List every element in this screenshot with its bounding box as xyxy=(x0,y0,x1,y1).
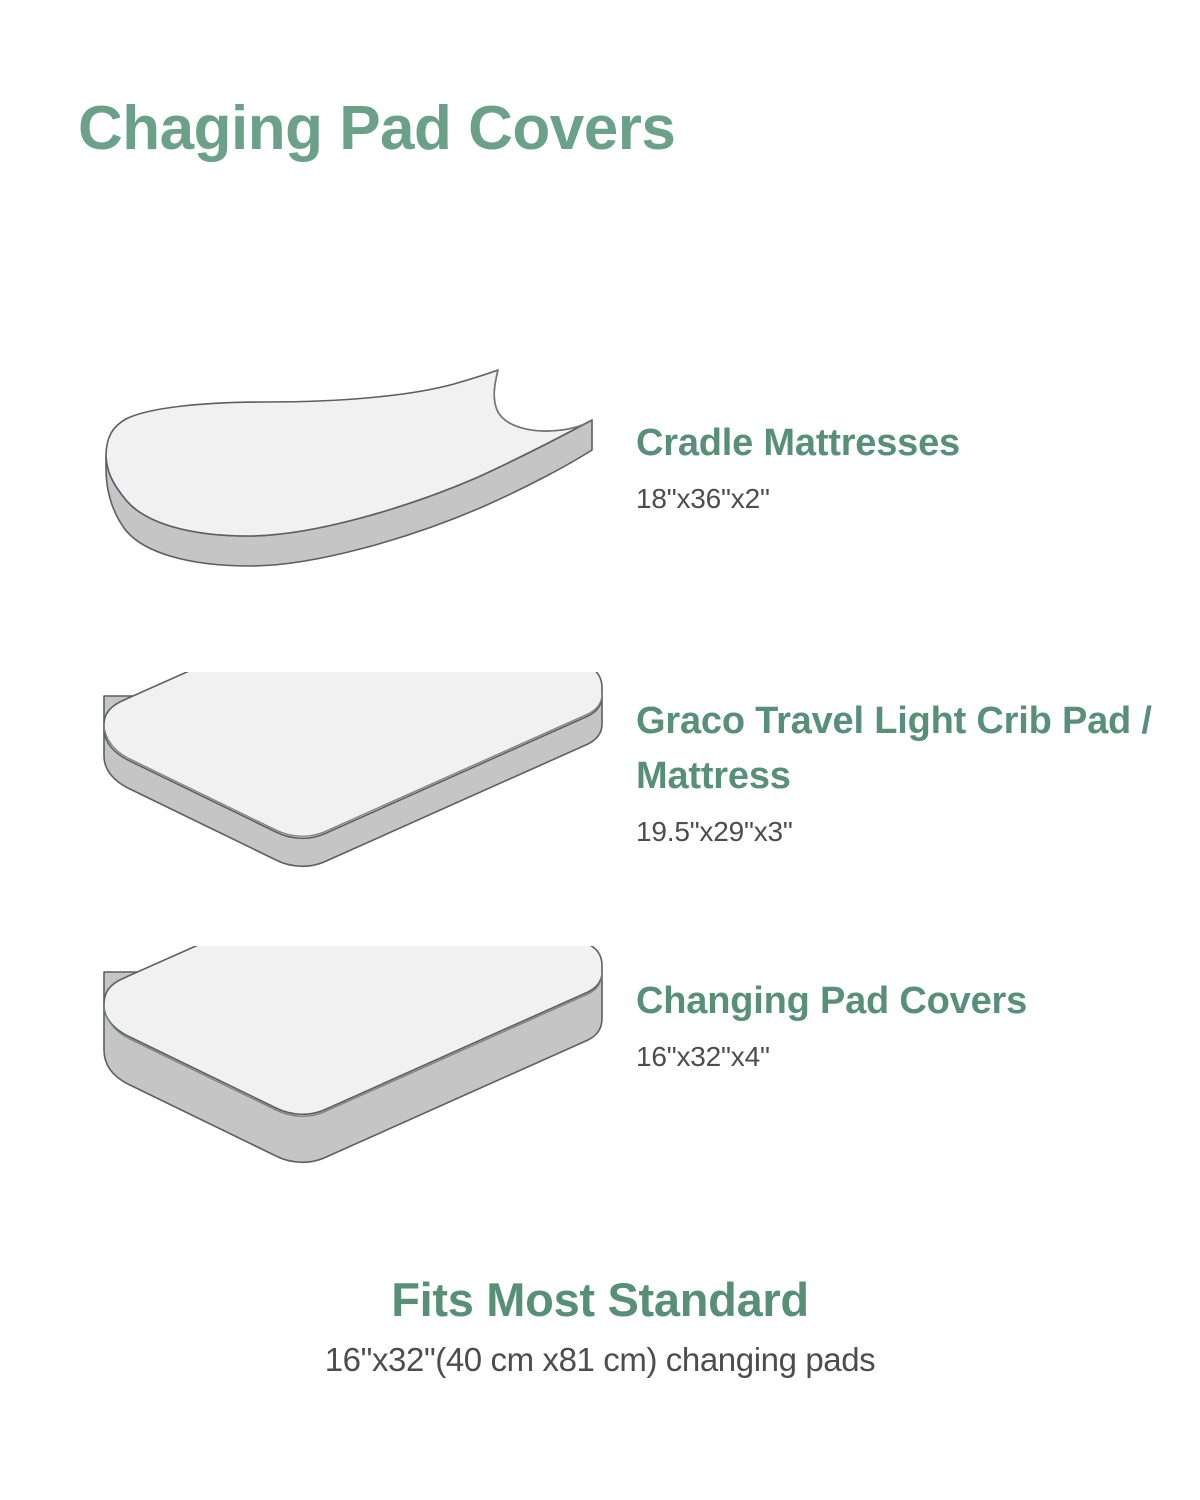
product-info: Cradle Mattresses 18"x36"x2" xyxy=(636,416,1166,517)
product-name: Changing Pad Covers xyxy=(636,974,1166,1029)
page-title: Chaging Pad Covers xyxy=(78,96,675,161)
product-info: Graco Travel Light Crib Pad / Mattress 1… xyxy=(636,694,1166,851)
product-dimensions: 18"x36"x2" xyxy=(636,481,1166,517)
product-info: Changing Pad Covers 16"x32"x4" xyxy=(636,974,1166,1075)
product-row: Changing Pad Covers 16"x32"x4" xyxy=(0,946,1200,1176)
product-name: Cradle Mattresses xyxy=(636,416,1166,471)
flat-mattress-thick-illustration xyxy=(80,946,620,1182)
product-dimensions: 16"x32"x4" xyxy=(636,1039,1166,1075)
footer-subline: 16"x32"(40 cm x81 cm) changing pads xyxy=(0,1340,1200,1380)
product-row: Graco Travel Light Crib Pad / Mattress 1… xyxy=(0,672,1200,896)
footer-headline: Fits Most Standard xyxy=(0,1272,1200,1328)
product-row: Cradle Mattresses 18"x36"x2" xyxy=(0,368,1200,604)
product-name: Graco Travel Light Crib Pad / Mattress xyxy=(636,694,1166,804)
contoured-changing-pad-illustration xyxy=(80,368,620,604)
flat-mattress-thin-illustration xyxy=(80,672,620,908)
footer: Fits Most Standard 16"x32"(40 cm x81 cm)… xyxy=(0,1272,1200,1380)
product-dimensions: 19.5"x29"x3" xyxy=(636,814,1166,850)
